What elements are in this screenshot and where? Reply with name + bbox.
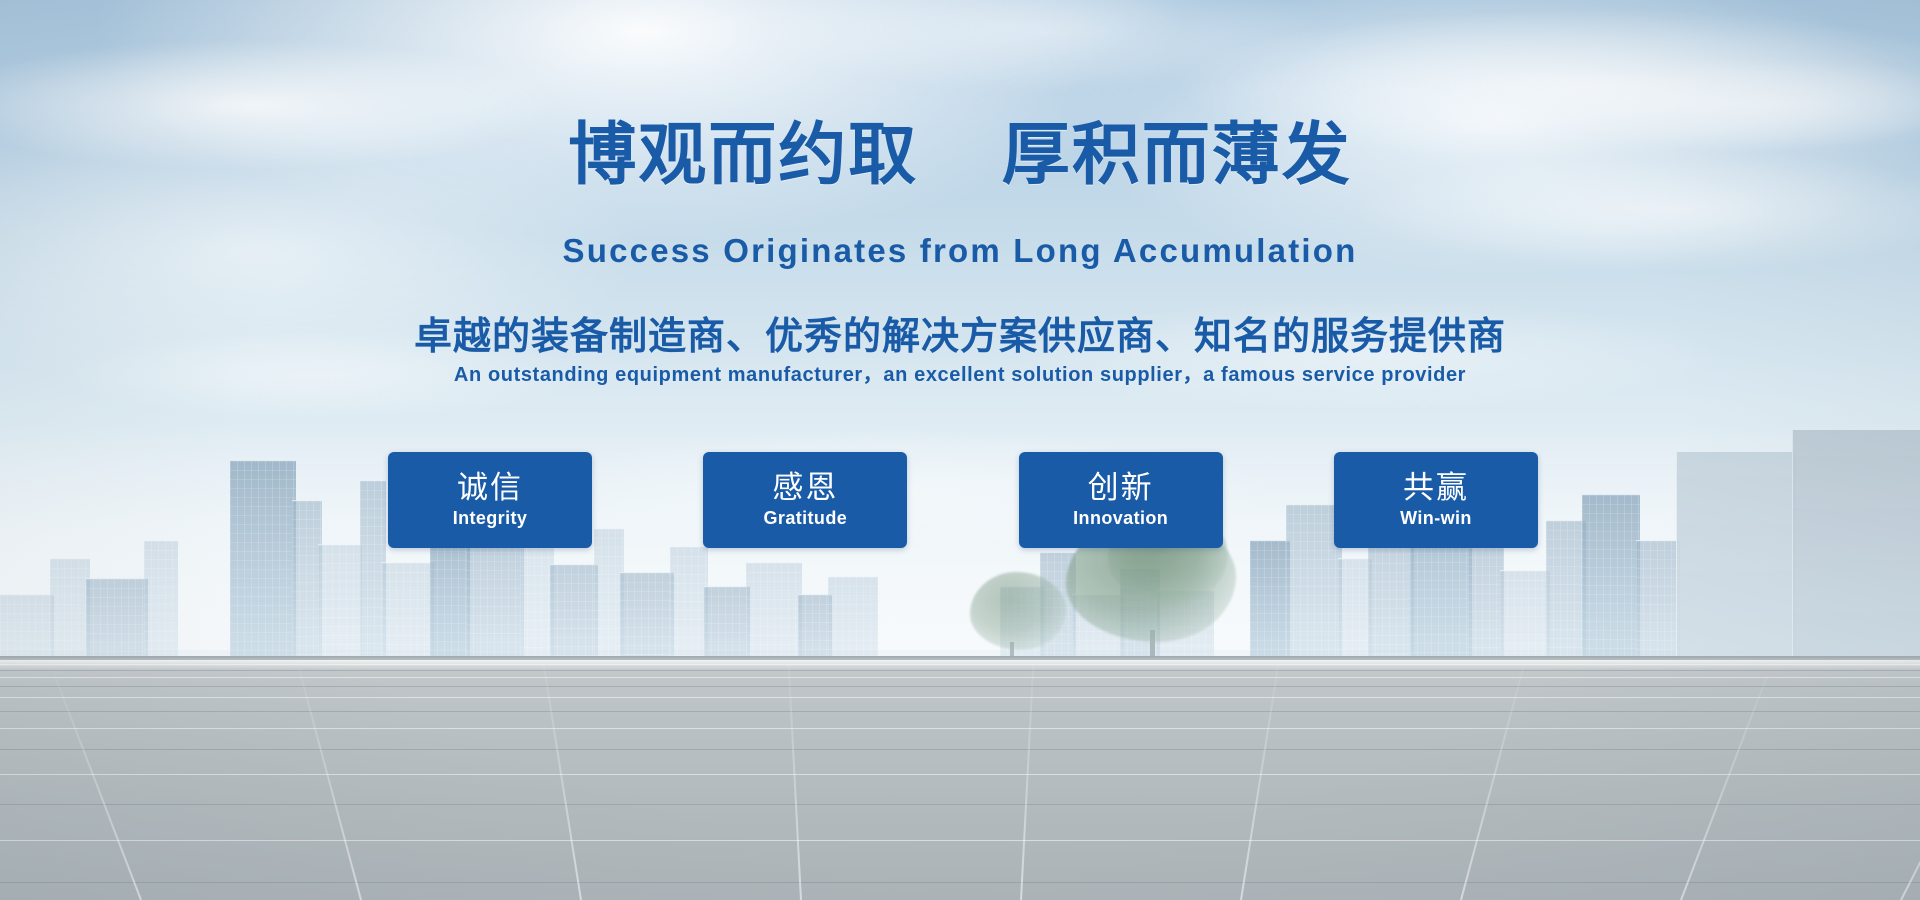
banner-content: 博观而约取 厚积而薄发 Success Originates from Long… <box>0 0 1920 900</box>
value-box-winwin[interactable]: 共赢 Win-win <box>1334 452 1538 548</box>
hero-banner: 博观而约取 厚积而薄发 Success Originates from Long… <box>0 0 1920 900</box>
subline-english: An outstanding equipment manufacturer，an… <box>0 358 1920 387</box>
value-box-innovation[interactable]: 创新 Innovation <box>1019 452 1223 548</box>
value-box-gratitude[interactable]: 感恩 Gratitude <box>703 452 907 548</box>
value-label-en: Win-win <box>1400 508 1472 529</box>
headline-chinese: 博观而约取 厚积而薄发 <box>0 122 1920 190</box>
core-values-list: 诚信 Integrity 感恩 Gratitude 创新 Innovation … <box>388 452 1538 548</box>
value-box-integrity[interactable]: 诚信 Integrity <box>388 452 592 548</box>
value-label-en: Innovation <box>1073 508 1168 529</box>
headline-chinese-part1: 博观而约取 <box>568 116 918 195</box>
value-label-zh: 感恩 <box>772 471 838 506</box>
value-label-en: Integrity <box>453 508 528 529</box>
subline-chinese: 卓越的装备制造商、优秀的解决方案供应商、知名的服务提供商 <box>0 305 1920 360</box>
value-label-en: Gratitude <box>764 508 848 529</box>
value-label-zh: 共赢 <box>1403 471 1469 506</box>
value-label-zh: 创新 <box>1088 471 1154 506</box>
headline-chinese-part2: 厚积而薄发 <box>1002 116 1352 195</box>
value-label-zh: 诚信 <box>457 471 523 506</box>
headline-english: Success Originates from Long Accumulatio… <box>0 232 1920 270</box>
